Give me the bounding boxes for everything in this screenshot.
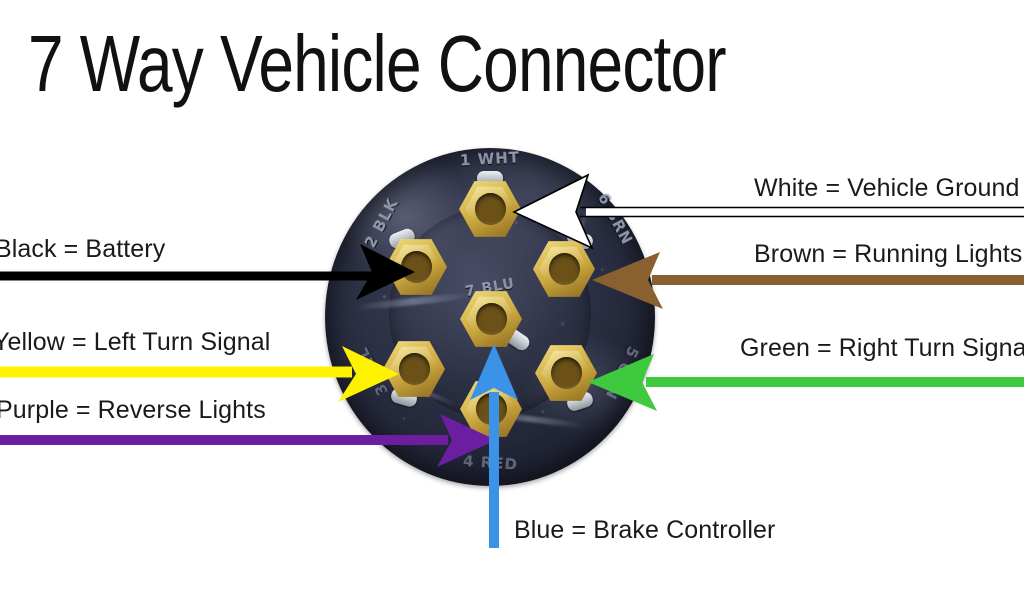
label-green: Green = Right Turn Signal — [740, 334, 1024, 363]
leader-line-layer — [0, 0, 1024, 600]
label-purple: Purple = Reverse Lights — [0, 396, 266, 425]
label-white: White = Vehicle Ground — [754, 174, 1020, 203]
label-yellow: Yellow = Left Turn Signal — [0, 328, 270, 357]
label-brown: Brown = Running Lights — [754, 240, 1022, 269]
label-blue: Blue = Brake Controller — [514, 516, 775, 545]
diagram-canvas: 7 Way Vehicle Connector 1 WHT 2 BLK 6 BR… — [0, 0, 1024, 600]
label-black: Black = Battery — [0, 235, 165, 264]
